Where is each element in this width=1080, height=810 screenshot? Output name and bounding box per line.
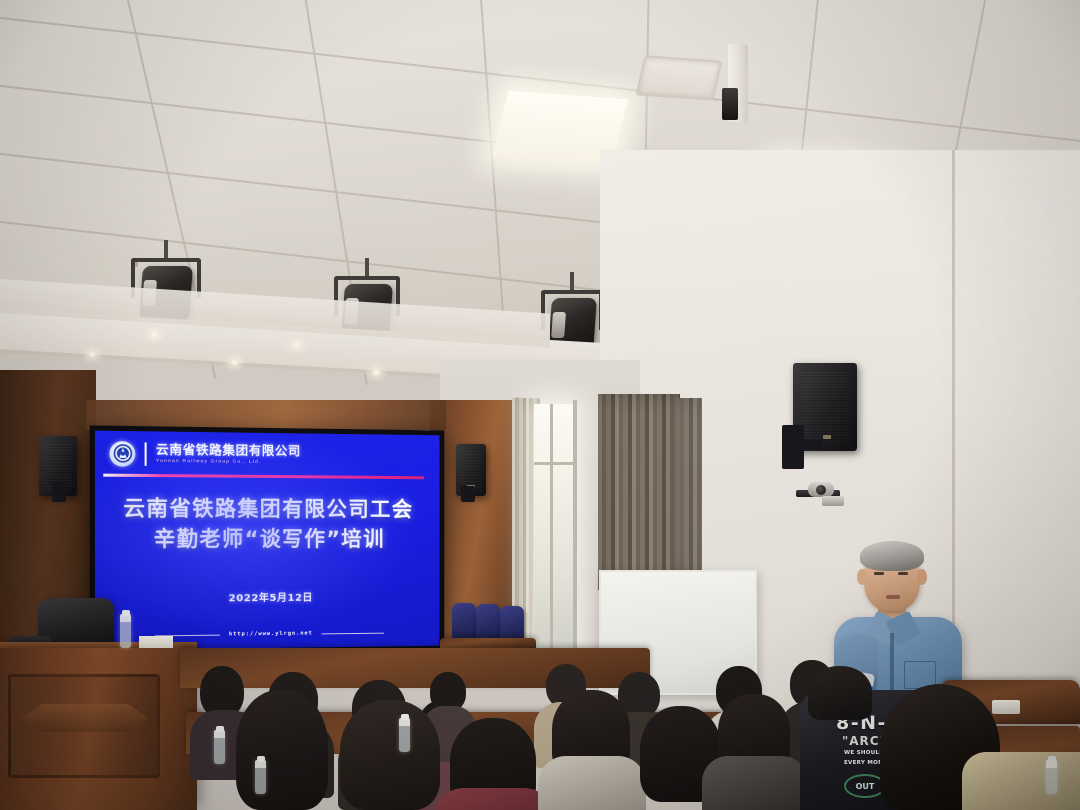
conference-room-photo: 云南省铁路集团有限公司 Yunnan Railway Group Co., Lt… (0, 0, 1080, 810)
bottle-cap (257, 756, 265, 762)
podium-papers (139, 636, 173, 648)
audience-member-head-tshirt (808, 666, 872, 720)
logo-divider (145, 442, 147, 465)
slide-title-line2: 辛勤老师“谈写作”培训 (95, 524, 440, 554)
yunnan-railway-emblem-icon (109, 440, 135, 466)
ceiling-camera-mount (722, 88, 738, 120)
recessed-downlight (372, 370, 381, 375)
bottle-cap (1048, 756, 1056, 762)
window-mullion-horizontal (534, 462, 576, 465)
logo-text-block: 云南省铁路集团有限公司 Yunnan Railway Group Co., Lt… (156, 444, 301, 466)
presenter-ear-right (917, 569, 927, 585)
presenter-ear-left (857, 569, 867, 585)
ceiling-air-vent (635, 55, 722, 100)
wooden-podium (0, 648, 197, 810)
footer-rule-right (322, 632, 384, 634)
slide-title-line1: 云南省铁路集团有限公司工会 (95, 494, 440, 525)
bottle-cap (122, 610, 130, 616)
presenter-mouth (886, 595, 900, 599)
recessed-downlight (88, 352, 97, 357)
recessed-downlight (292, 342, 301, 347)
slide-title: 云南省铁路集团有限公司工会 辛勤老师“谈写作”培训 (95, 494, 440, 555)
audience-shoulder-beige (962, 752, 1080, 810)
projection-screen: 云南省铁路集团有限公司 Yunnan Railway Group Co., Lt… (90, 425, 445, 655)
slide-accent-rule (103, 474, 424, 479)
presenter-eye-right (898, 572, 908, 575)
window-mullion-vertical (550, 404, 553, 654)
presenter-eye-left (874, 572, 884, 575)
speaker-bracket-center (461, 486, 475, 502)
speaker-bracket-left (52, 482, 66, 502)
ptz-conference-camera (796, 482, 848, 512)
bottle-cap (216, 726, 224, 732)
presenter-hair (860, 541, 924, 571)
window-curtain-far (676, 398, 702, 578)
podium-diamond-motif (22, 704, 148, 732)
logo-company-en: Yunnan Railway Group Co., Ltd. (156, 459, 301, 465)
water-bottle (214, 730, 225, 764)
water-bottle (399, 718, 410, 752)
seat-row-bench (440, 638, 536, 648)
water-bottle (120, 614, 131, 648)
logo-company-cn: 云南省铁路集团有限公司 (156, 444, 301, 458)
recessed-downlight (230, 360, 239, 365)
window-curtain-right (598, 394, 680, 590)
water-bottle (255, 760, 266, 794)
bottle-cap (401, 714, 409, 720)
tissue-box (992, 700, 1020, 714)
daylight-window (534, 404, 576, 654)
recessed-downlight (150, 332, 159, 337)
slide-logo-header: 云南省铁路集团有限公司 Yunnan Railway Group Co., Lt… (95, 435, 440, 475)
water-bottle (1046, 760, 1057, 794)
auditorium-seat (452, 603, 476, 643)
slide-footer-url: http://www.ylrgn.net (229, 631, 313, 638)
slide-date: 2022年5月12日 (95, 588, 440, 605)
window-frame-right (573, 400, 577, 656)
slide-surface: 云南省铁路集团有限公司 Yunnan Railway Group Co., Lt… (95, 431, 440, 651)
speaker-bracket-arm-right (798, 439, 822, 449)
